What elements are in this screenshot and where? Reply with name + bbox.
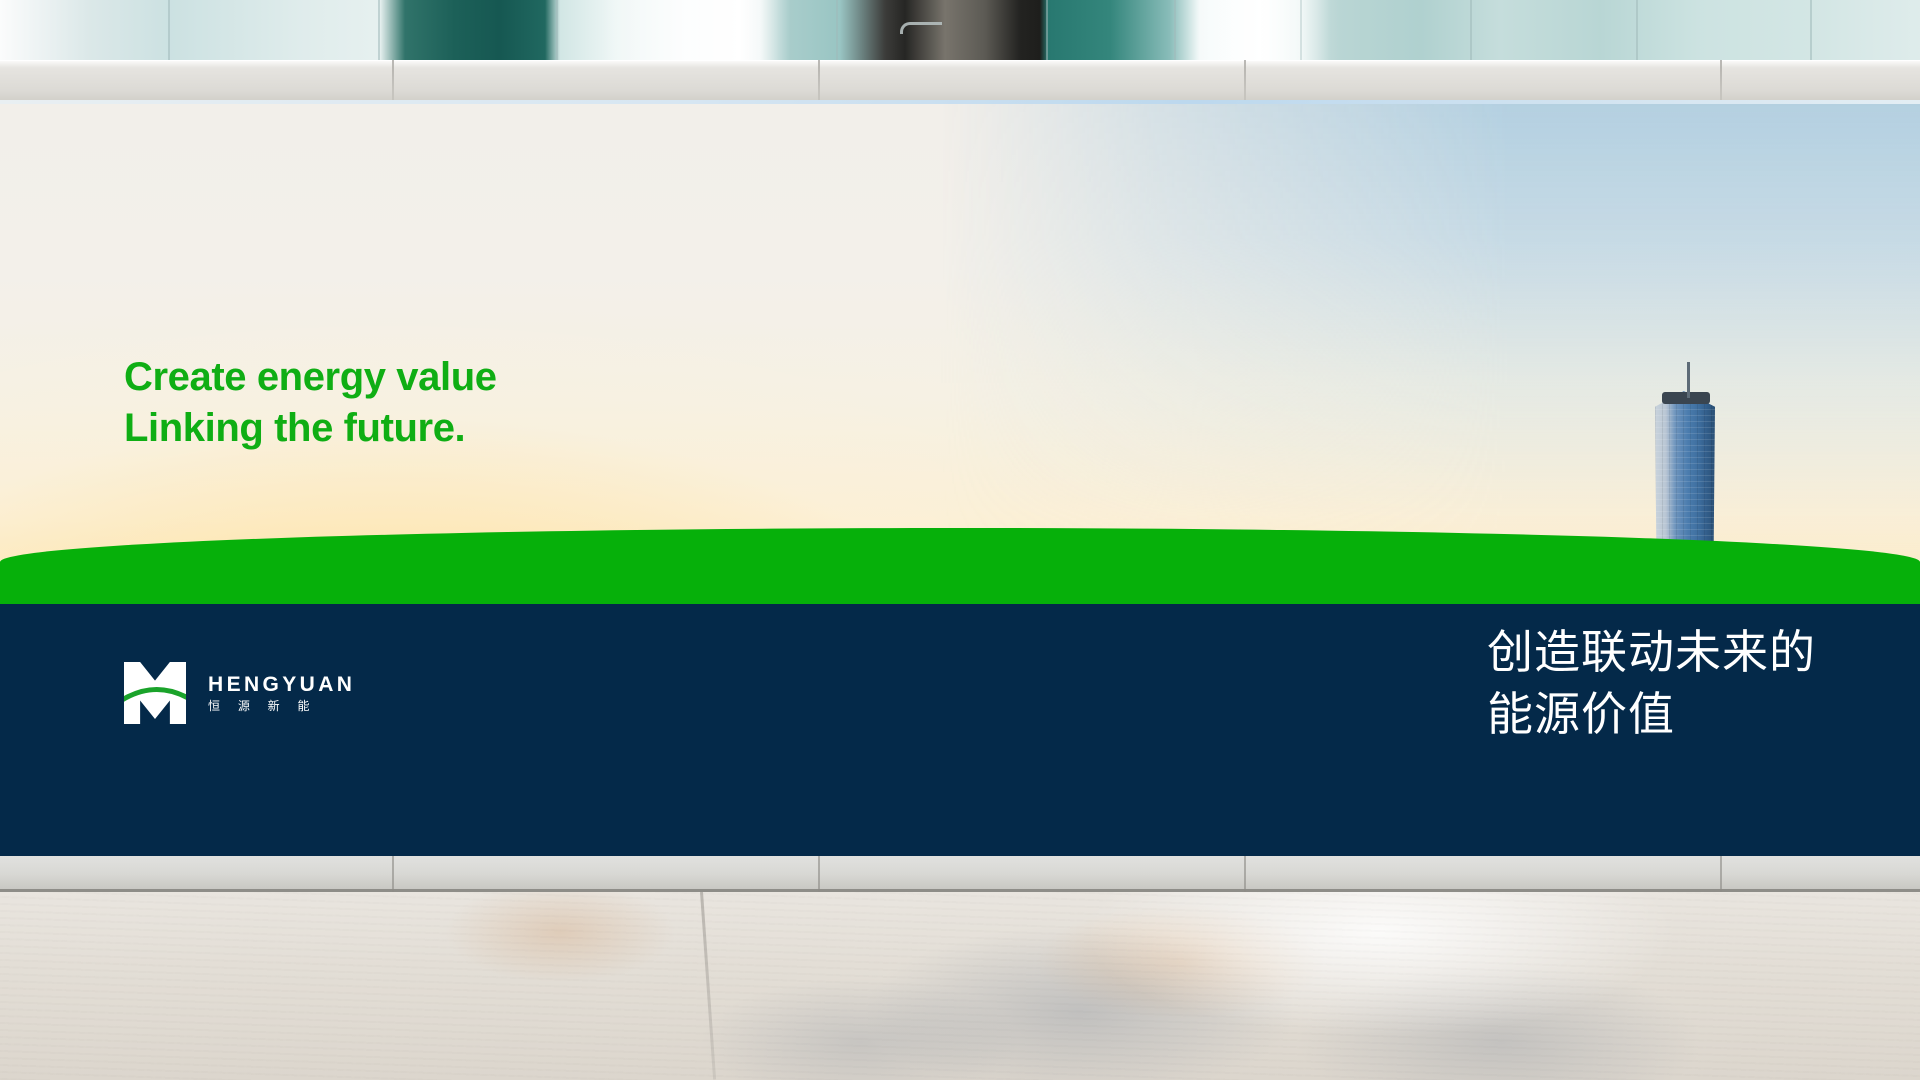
green-arc-icon	[122, 682, 188, 708]
concrete-floor	[0, 892, 1920, 1080]
wall-fixture-icon	[900, 22, 942, 34]
logo-wordmark: HENGYUAN 恒 源 新 能	[208, 674, 355, 712]
upper-concrete-ledge	[0, 60, 1920, 104]
glass-facade-backdrop	[0, 0, 1920, 60]
billboard-poster: Create energy value Linking the future. …	[0, 104, 1920, 856]
logo-wordmark-cn: 恒 源 新 能	[208, 700, 355, 712]
green-swoosh-band	[0, 528, 1920, 606]
hengyuan-monogram-icon	[124, 662, 186, 724]
chinese-tagline-line-2: 能源价值	[1487, 683, 1816, 746]
brand-logo-lockup: HENGYUAN 恒 源 新 能	[124, 662, 355, 724]
chinese-tagline-line-1: 创造联动未来的	[1487, 621, 1816, 684]
poster-headline: Create energy value Linking the future.	[124, 352, 497, 454]
chinese-tagline: 创造联动未来的 能源价值	[1487, 621, 1816, 746]
logo-wordmark-en: HENGYUAN	[208, 674, 355, 695]
owtc-antenna-ring	[1662, 392, 1710, 404]
headline-line-1: Create energy value	[124, 352, 497, 403]
lower-concrete-ledge	[0, 856, 1920, 892]
headline-line-2: Linking the future.	[124, 403, 497, 454]
owtc-spire	[1687, 362, 1690, 398]
billboard-scene: Create energy value Linking the future. …	[0, 0, 1920, 1080]
